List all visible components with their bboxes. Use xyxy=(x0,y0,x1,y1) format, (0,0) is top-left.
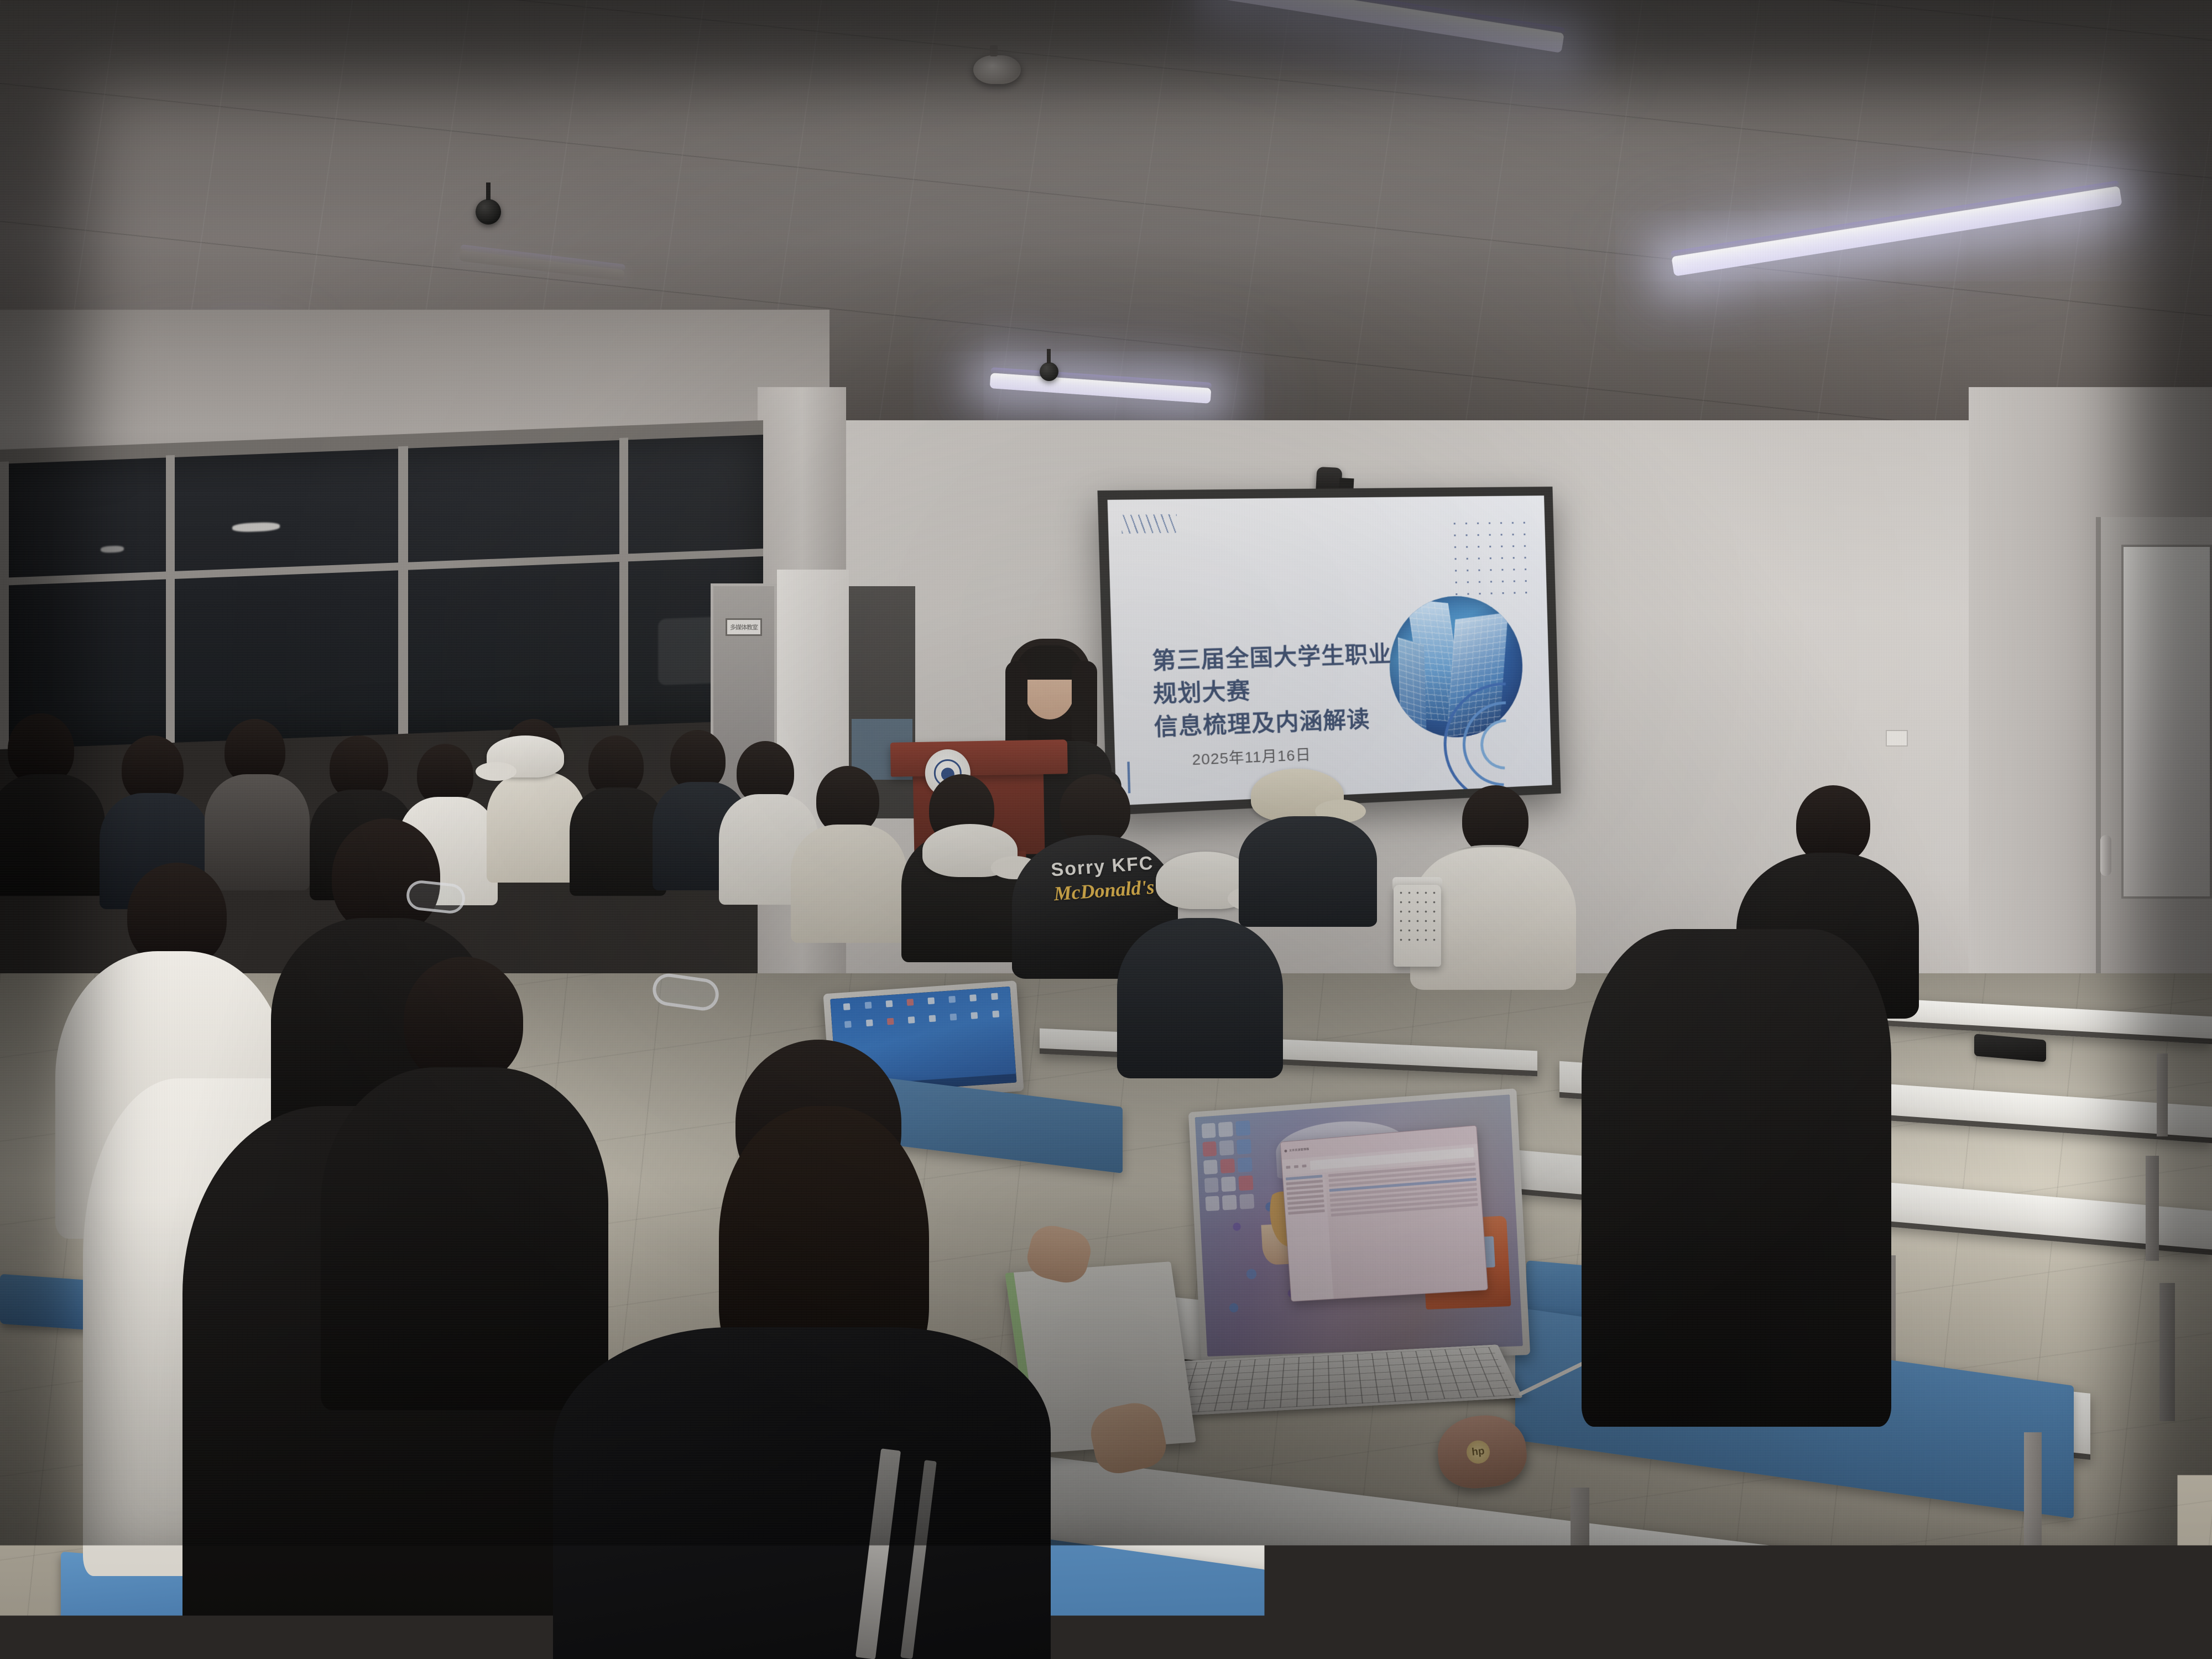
ceiling-speaker-icon xyxy=(1040,362,1058,381)
slide-arc-decoration xyxy=(1419,658,1552,805)
slide-hatch-decoration xyxy=(1121,514,1177,534)
door-handle-icon[interactable] xyxy=(2100,835,2111,876)
audience-member xyxy=(570,735,666,890)
file-explorer-window[interactable]: 文件资源管理器 xyxy=(1280,1125,1489,1302)
door-sign: 多媒体教室 xyxy=(726,618,762,636)
night-window xyxy=(0,432,763,749)
up-icon[interactable] xyxy=(1302,1165,1307,1168)
audience-member-with-cap xyxy=(1239,769,1377,924)
forward-icon[interactable] xyxy=(1294,1165,1298,1168)
slide-dot-grid-decoration xyxy=(1448,517,1528,602)
slide-date: 2025年11月16日 xyxy=(1192,743,1311,769)
water-bottle xyxy=(1394,885,1441,967)
presentation-slide: 第三届全国大学生职业规划大赛 信息梳理及内涵解读 2025年11月16日 xyxy=(1108,495,1552,805)
laptop-lid: 文件资源管理器 xyxy=(1188,1088,1530,1365)
explorer-file-list[interactable] xyxy=(1325,1160,1488,1299)
door-sign-text: 多媒体教室 xyxy=(730,623,758,632)
desktop-icon-grid xyxy=(1201,1120,1260,1316)
smoke-detector-icon xyxy=(973,55,1021,84)
audience-member-foreground xyxy=(553,1040,1051,1659)
explorer-window-title: 文件资源管理器 xyxy=(1289,1147,1310,1152)
explorer-folder-icon xyxy=(1285,1149,1287,1152)
slide-title: 第三届全国大学生职业规划大赛 信息梳理及内涵解读 xyxy=(1151,638,1411,744)
wall-outlet-icon xyxy=(1886,730,1908,747)
nav-item[interactable] xyxy=(1288,1209,1326,1215)
ceiling-speaker-icon xyxy=(476,199,501,225)
door-glass-panel xyxy=(2121,545,2212,899)
audience-member xyxy=(1582,929,1891,1427)
laptop-hp[interactable]: 文件资源管理器 xyxy=(1188,1088,1530,1365)
back-icon[interactable] xyxy=(1286,1166,1291,1169)
hp-logo-icon: hp xyxy=(1465,1439,1491,1465)
projection-screen: 第三届全国大学生职业规划大赛 信息梳理及内涵解读 2025年11月16日 xyxy=(1097,487,1561,815)
laptop-screen[interactable]: 文件资源管理器 xyxy=(1195,1094,1523,1357)
audience-member xyxy=(791,766,907,937)
slide-title-line-1: 第三届全国大学生职业规划大赛 xyxy=(1151,638,1410,711)
classroom-photo-scene: 多媒体教室 第三届全国大学生职业规划大赛 信息梳理及内涵解读 2025年11月1… xyxy=(0,0,2212,1659)
